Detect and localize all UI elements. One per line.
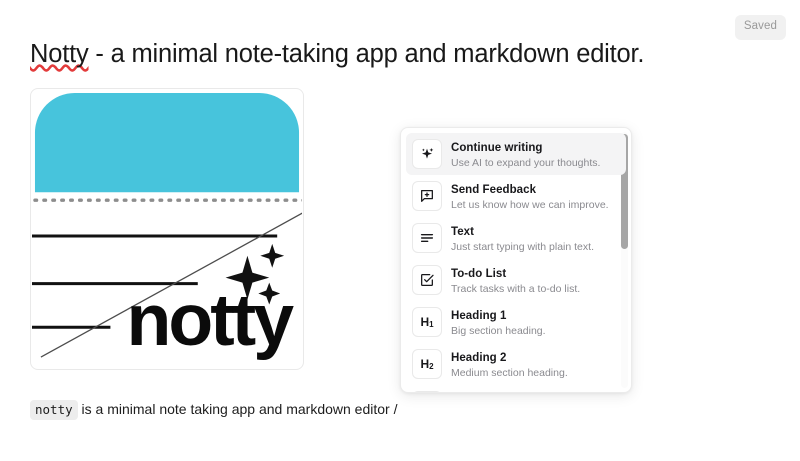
status-badge-saved: Saved — [735, 15, 786, 40]
heading-3-icon: H3 — [412, 391, 442, 393]
logo-wordmark: notty — [126, 279, 294, 361]
command-item-text: To-do List Track tasks with a to-do list… — [451, 264, 580, 296]
paragraph-text: is a minimal note taking app and markdow… — [78, 401, 398, 417]
slash-command-menu[interactable]: Continue writing Use AI to expand your t… — [400, 127, 632, 393]
command-description: Big section heading. — [451, 324, 546, 338]
command-title: Heading 1 — [451, 310, 506, 322]
heading-glyph: H2 — [420, 358, 433, 370]
command-title: Continue writing — [451, 142, 543, 154]
command-item-text: Send Feedback Let us know how we can imp… — [451, 180, 609, 212]
command-item-text: Heading 2 Medium section heading. — [451, 348, 568, 380]
heading-glyph-number: 1 — [429, 320, 433, 329]
heading-2-icon: H2 — [412, 349, 442, 379]
command-item-text-block[interactable]: Text Just start typing with plain text. — [406, 217, 626, 259]
command-description: Use AI to expand your thoughts. — [451, 156, 600, 170]
page-title-rest: - a minimal note-taking app and markdown… — [89, 40, 645, 68]
notty-logo-icon: notty — [31, 89, 303, 369]
command-item-text: Continue writing Use AI to expand your t… — [451, 138, 600, 170]
heading-glyph: H1 — [420, 316, 433, 328]
command-item-heading-2[interactable]: H2 Heading 2 Medium section heading. — [406, 343, 626, 385]
command-item-heading-3[interactable]: H3 Heading 3 Small section heading. — [406, 385, 626, 393]
command-item-send-feedback[interactable]: Send Feedback Let us know how we can imp… — [406, 175, 626, 217]
page-title[interactable]: Notty - a minimal note-taking app and ma… — [30, 38, 644, 70]
command-title: Heading 2 — [451, 352, 506, 364]
command-description: Track tasks with a to-do list. — [451, 282, 580, 296]
command-description: Just start typing with plain text. — [451, 240, 594, 254]
heading-1-icon: H1 — [412, 307, 442, 337]
command-item-heading-1[interactable]: H1 Heading 1 Big section heading. — [406, 301, 626, 343]
command-description: Let us know how we can improve. — [451, 198, 609, 212]
command-item-text: Heading 1 Big section heading. — [451, 306, 546, 338]
message-plus-icon — [412, 181, 442, 211]
heading-glyph-number: 2 — [429, 362, 433, 371]
command-title: To-do List — [451, 268, 506, 280]
command-title: Send Feedback — [451, 184, 536, 196]
sparkle-icon — [412, 139, 442, 169]
command-item-continue-writing[interactable]: Continue writing Use AI to expand your t… — [406, 133, 626, 175]
command-title: Text — [451, 226, 474, 238]
text-lines-icon — [412, 223, 442, 253]
checkbox-check-icon — [412, 265, 442, 295]
command-item-text: Heading 3 Small section heading. — [451, 390, 557, 393]
page-title-misspelled-word: Notty — [30, 40, 89, 68]
image-block-notty-logo[interactable]: notty — [30, 88, 304, 370]
command-item-text: Text Just start typing with plain text. — [451, 222, 594, 254]
document-paragraph[interactable]: notty is a minimal note taking app and m… — [30, 399, 397, 420]
heading-glyph-letter: H — [420, 315, 429, 329]
inline-code-notty: notty — [30, 400, 78, 420]
command-item-todo-list[interactable]: To-do List Track tasks with a to-do list… — [406, 259, 626, 301]
command-description: Medium section heading. — [451, 366, 568, 380]
heading-glyph-letter: H — [420, 357, 429, 371]
logo-accent-block — [35, 93, 299, 192]
command-list: Continue writing Use AI to expand your t… — [401, 128, 631, 393]
